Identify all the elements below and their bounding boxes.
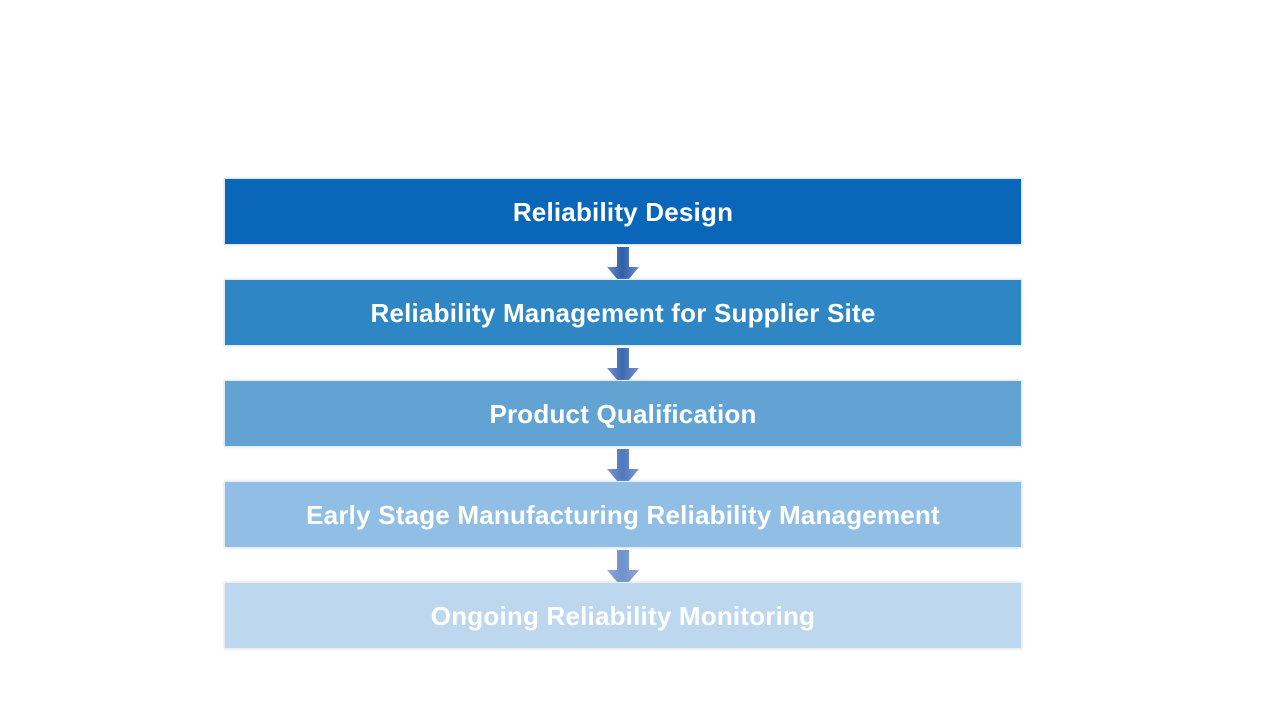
flow-step-early-stage-manufacturing-reliability-management[interactable]: Early Stage Manufacturing Reliability Ma… [224,481,1022,548]
flow-step-label: Ongoing Reliability Monitoring [431,603,815,629]
flow-step-label: Reliability Management for Supplier Site [371,300,876,326]
flow-step-label: Early Stage Manufacturing Reliability Ma… [306,502,940,528]
flow-step-ongoing-reliability-monitoring[interactable]: Ongoing Reliability Monitoring [224,582,1022,649]
reliability-process-flow-diagram: Reliability Design Reliability Managemen… [0,0,1280,720]
flow-step-product-qualification[interactable]: Product Qualification [224,380,1022,447]
flow-step-list: Reliability Design Reliability Managemen… [224,178,1022,649]
flow-step-label: Reliability Design [513,199,733,225]
flow-step-label: Product Qualification [489,401,756,427]
flow-step-reliability-management-supplier-site[interactable]: Reliability Management for Supplier Site [224,279,1022,346]
flow-step-reliability-design[interactable]: Reliability Design [224,178,1022,245]
